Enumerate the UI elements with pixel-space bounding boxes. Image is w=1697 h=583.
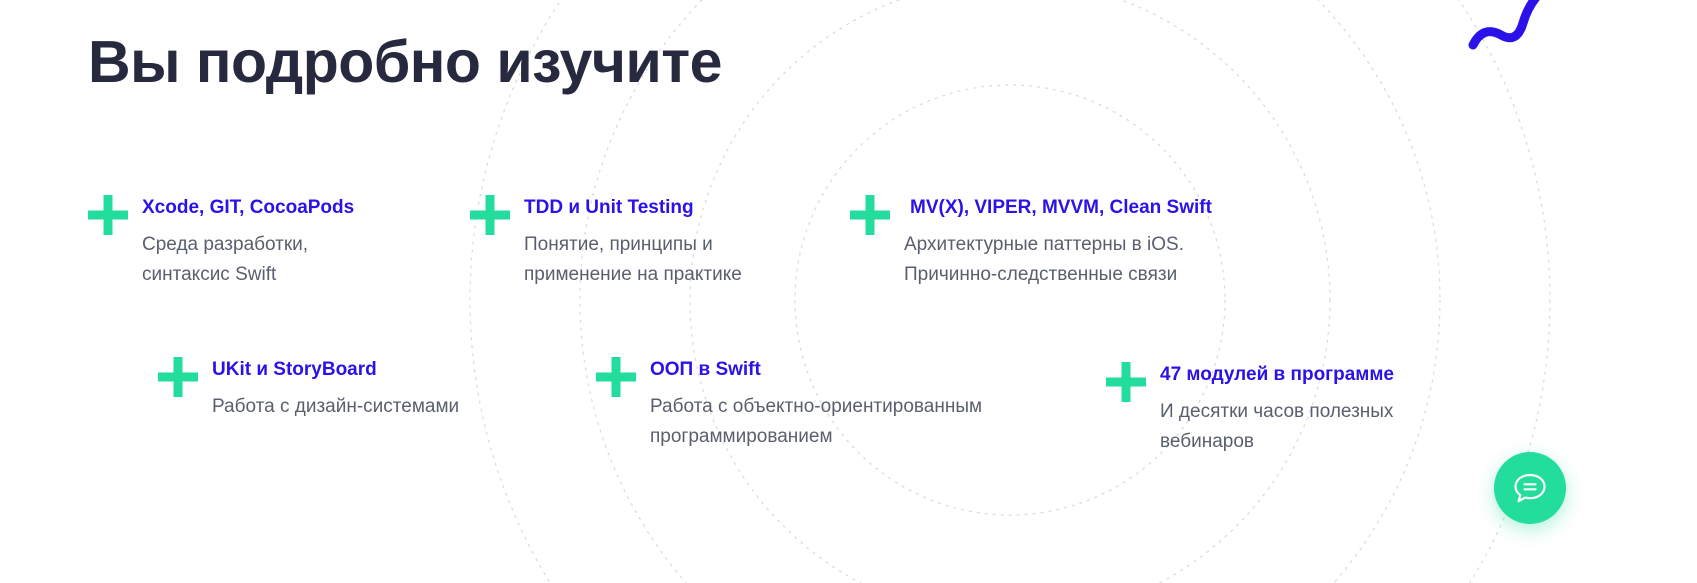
plus-icon xyxy=(850,195,890,235)
feature-title: TDD и Unit Testing xyxy=(524,196,742,220)
feature-text: MV(X), VIPER, MVVM, Clean Swift Архитект… xyxy=(904,193,1212,290)
plus-icon xyxy=(470,195,510,235)
feature-grid: Xcode, GIT, CocoaPods Среда разработки, … xyxy=(0,0,1697,583)
feature-description: Среда разработки, синтаксис Swift xyxy=(142,230,354,290)
page-root: Вы подробно изучите Xcode, GIT, CocoaPod… xyxy=(0,0,1697,583)
feature-text: TDD и Unit Testing Понятие, принципы и п… xyxy=(524,193,742,290)
feature-description: Архитектурные паттерны в iOS. Причинно-с… xyxy=(904,230,1212,290)
feature-text: ООП в Swift Работа с объектно-ориентиров… xyxy=(650,355,982,452)
feature-title: Xcode, GIT, CocoaPods xyxy=(142,196,354,220)
feature-text: Xcode, GIT, CocoaPods Среда разработки, … xyxy=(142,193,354,290)
plus-icon xyxy=(158,357,198,397)
feature-description: Понятие, принципы и применение на практи… xyxy=(524,230,742,290)
feature-item: Xcode, GIT, CocoaPods Среда разработки, … xyxy=(88,193,354,290)
feature-description: И десятки часов полезных вебинаров xyxy=(1160,397,1394,457)
feature-title: 47 модулей в программе xyxy=(1160,363,1394,387)
feature-item: 47 модулей в программе И десятки часов п… xyxy=(1106,360,1394,457)
chat-widget-button[interactable] xyxy=(1494,452,1566,524)
feature-title: MV(X), VIPER, MVVM, Clean Swift xyxy=(910,196,1212,220)
feature-text: UKit и StoryBoard Работа с дизайн-систем… xyxy=(212,355,459,422)
feature-text: 47 модулей в программе И десятки часов п… xyxy=(1160,360,1394,457)
plus-icon xyxy=(88,195,128,235)
feature-title: ООП в Swift xyxy=(650,358,982,382)
plus-icon xyxy=(596,357,636,397)
feature-item: ООП в Swift Работа с объектно-ориентиров… xyxy=(596,355,982,452)
feature-description: Работа с дизайн-системами xyxy=(212,392,459,422)
feature-item: UKit и StoryBoard Работа с дизайн-систем… xyxy=(158,355,459,422)
feature-title: UKit и StoryBoard xyxy=(212,358,459,382)
chat-bubble-icon xyxy=(1511,469,1549,507)
plus-icon xyxy=(1106,362,1146,402)
feature-description: Работа с объектно-ориентированным програ… xyxy=(650,392,982,452)
feature-item: TDD и Unit Testing Понятие, принципы и п… xyxy=(470,193,742,290)
feature-item: MV(X), VIPER, MVVM, Clean Swift Архитект… xyxy=(850,193,1212,290)
